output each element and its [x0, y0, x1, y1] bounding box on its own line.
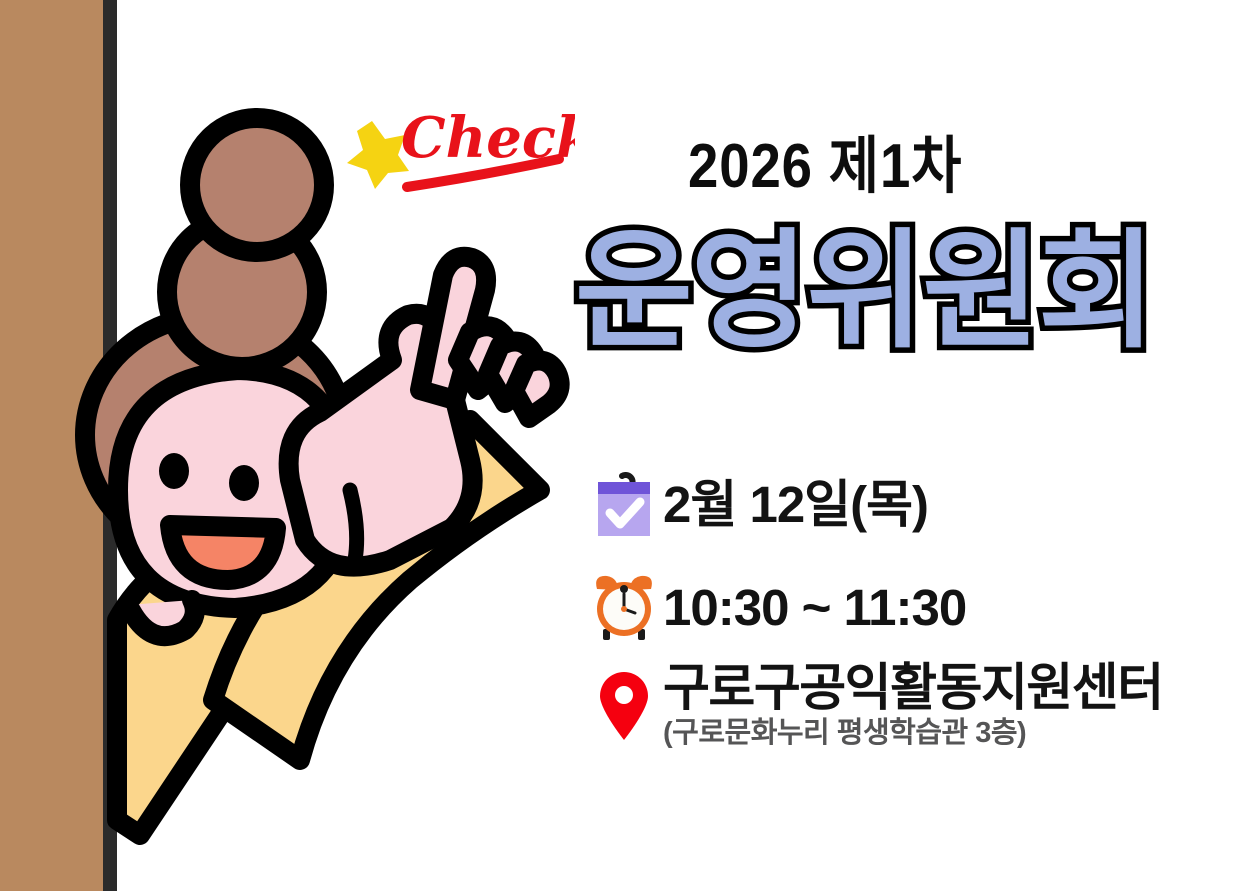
- detail-time-text: 10:30 ~ 11:30: [663, 581, 966, 635]
- detail-row-date: 2월 12일(목): [585, 462, 928, 548]
- kicker-heading: 2026 제1차: [688, 136, 962, 198]
- calendar-check-icon: [585, 462, 663, 548]
- poster-canvas: Check 2026 제1차 운영위원회 2월 12일(목): [0, 0, 1260, 891]
- detail-row-time: 10:30 ~ 11:30: [585, 565, 966, 651]
- text-column: 2026 제1차 운영위원회 2월 12일(목): [575, 0, 1260, 891]
- detail-place-text: 구로구공익활동지원센터: [663, 662, 1163, 714]
- detail-row-place: 구로구공익활동지원센터 (구로문화누리 평생학습관 3층): [585, 660, 1163, 752]
- check-badge: Check: [345, 95, 575, 200]
- page-title: 운영위원회: [575, 228, 1154, 356]
- star-icon: [347, 121, 409, 189]
- detail-date-text: 2월 12일(목): [663, 478, 928, 532]
- alarm-clock-icon: [585, 565, 663, 651]
- place-text-block: 구로구공익활동지원센터 (구로문화누리 평생학습관 3층): [663, 660, 1163, 750]
- detail-place-subtext: (구로문화누리 평생학습관 3층): [663, 718, 1163, 750]
- map-pin-icon: [585, 660, 663, 752]
